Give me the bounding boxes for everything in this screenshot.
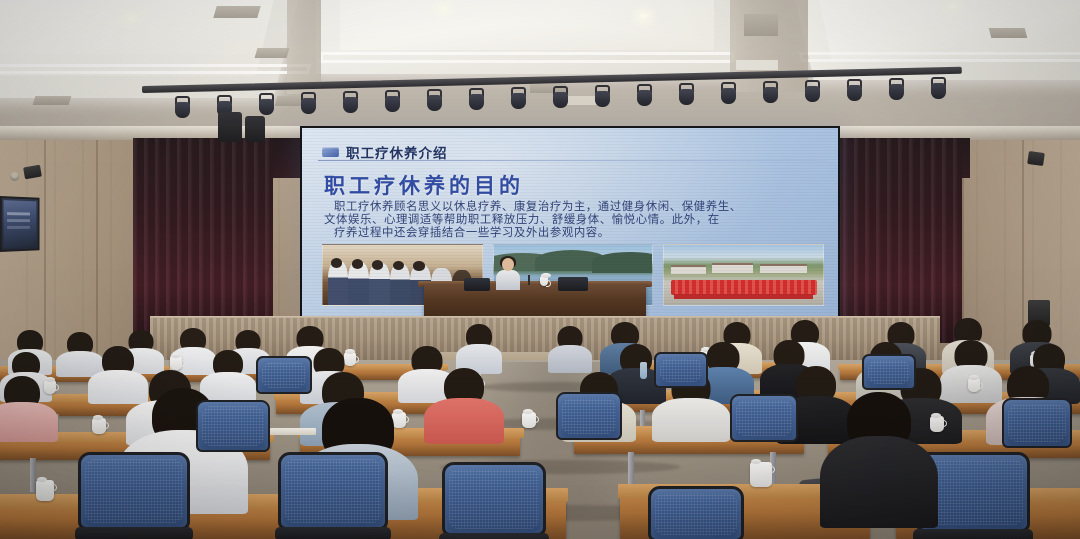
ceiling-coffer-center-inner — [340, 0, 714, 50]
wall-sensor-icon — [10, 172, 19, 181]
wall-seam-2 — [96, 140, 98, 362]
chair-far-right[interactable] — [862, 354, 916, 390]
chair-far-left[interactable] — [256, 356, 312, 394]
recessed-light-4 — [950, 4, 957, 8]
ceiling-rim-center — [320, 52, 734, 63]
recessed-light-3 — [640, 14, 647, 18]
slide-title: 职工疗休养的目的 — [324, 170, 524, 200]
laptop-right[interactable] — [558, 277, 588, 291]
laptop-left[interactable] — [464, 278, 490, 291]
wall-monitor-left[interactable] — [0, 196, 40, 252]
group-red-row — [671, 280, 817, 296]
chair-front-center-left[interactable] — [278, 452, 388, 530]
conference-hall-photo: 职工疗休养介绍 职工疗休养的目的 职工疗休养顾名思义以休息疗养、康复治疗为主，通… — [0, 0, 1080, 539]
presenter-body — [496, 270, 520, 290]
stage-curtain-right — [832, 138, 962, 343]
hanging-speaker-left-2-icon — [245, 116, 265, 142]
chair-far-center[interactable] — [654, 352, 708, 388]
presenter-head — [502, 258, 514, 271]
slide-header: 职工疗休养介绍 — [322, 142, 448, 162]
ceiling-rim-right — [799, 52, 1080, 62]
ceiling-vent-2 — [255, 48, 290, 58]
slide-body-text: 职工疗休养顾名思义以休息疗养、康复治疗为主，通过健身休闲、保健养生、 文体娱乐、… — [324, 200, 820, 240]
teacup — [968, 378, 980, 392]
ceiling-beam-left — [287, 0, 321, 94]
wall-monitor-screen — [4, 200, 37, 248]
ceiling-coffer-right-inner — [812, 0, 1080, 60]
slide-body-line-3: 疗养过程中还会穿插结合一些学习及外出参观内容。 — [324, 226, 820, 239]
chair-front-center[interactable] — [442, 462, 546, 536]
chair-mid-left[interactable] — [196, 400, 270, 452]
group-banner — [674, 294, 814, 299]
slide-divider — [318, 160, 826, 161]
teacup — [36, 480, 54, 501]
ceiling-vent-1 — [213, 6, 260, 18]
teacup — [750, 462, 772, 487]
teacup — [170, 356, 182, 370]
ceiling-rim-left — [0, 64, 311, 74]
ceiling — [0, 0, 1080, 132]
water-bottle — [640, 362, 647, 379]
chair-mid-center[interactable] — [556, 392, 622, 440]
chair-mid-far-right[interactable] — [1002, 398, 1072, 448]
ceiling-vent-5 — [736, 60, 778, 70]
ceiling-vent-9 — [989, 28, 1028, 38]
wall-speaker-right-icon — [1027, 151, 1045, 166]
presenter — [495, 258, 521, 288]
stage-cup — [540, 276, 548, 286]
recessed-light-1 — [128, 16, 135, 20]
stage-curtain-left — [133, 138, 273, 343]
slide-header-label: 职工疗休养介绍 — [346, 142, 448, 162]
teacup — [522, 412, 536, 428]
teacup — [92, 418, 106, 434]
hanging-speaker-left-icon — [218, 112, 242, 142]
microphone-icon — [528, 275, 530, 285]
ceiling-vent-6 — [33, 96, 72, 105]
slide-bullet-icon — [322, 147, 339, 157]
chair-right-inner[interactable] — [648, 486, 744, 539]
recessed-light-2 — [440, 6, 447, 10]
group-photo — [663, 244, 824, 306]
ceiling-vent-4 — [744, 14, 778, 36]
chair-front-left[interactable] — [78, 452, 190, 530]
chair-mid-right[interactable] — [730, 394, 798, 442]
attendee-dark-shirt — [820, 392, 938, 522]
